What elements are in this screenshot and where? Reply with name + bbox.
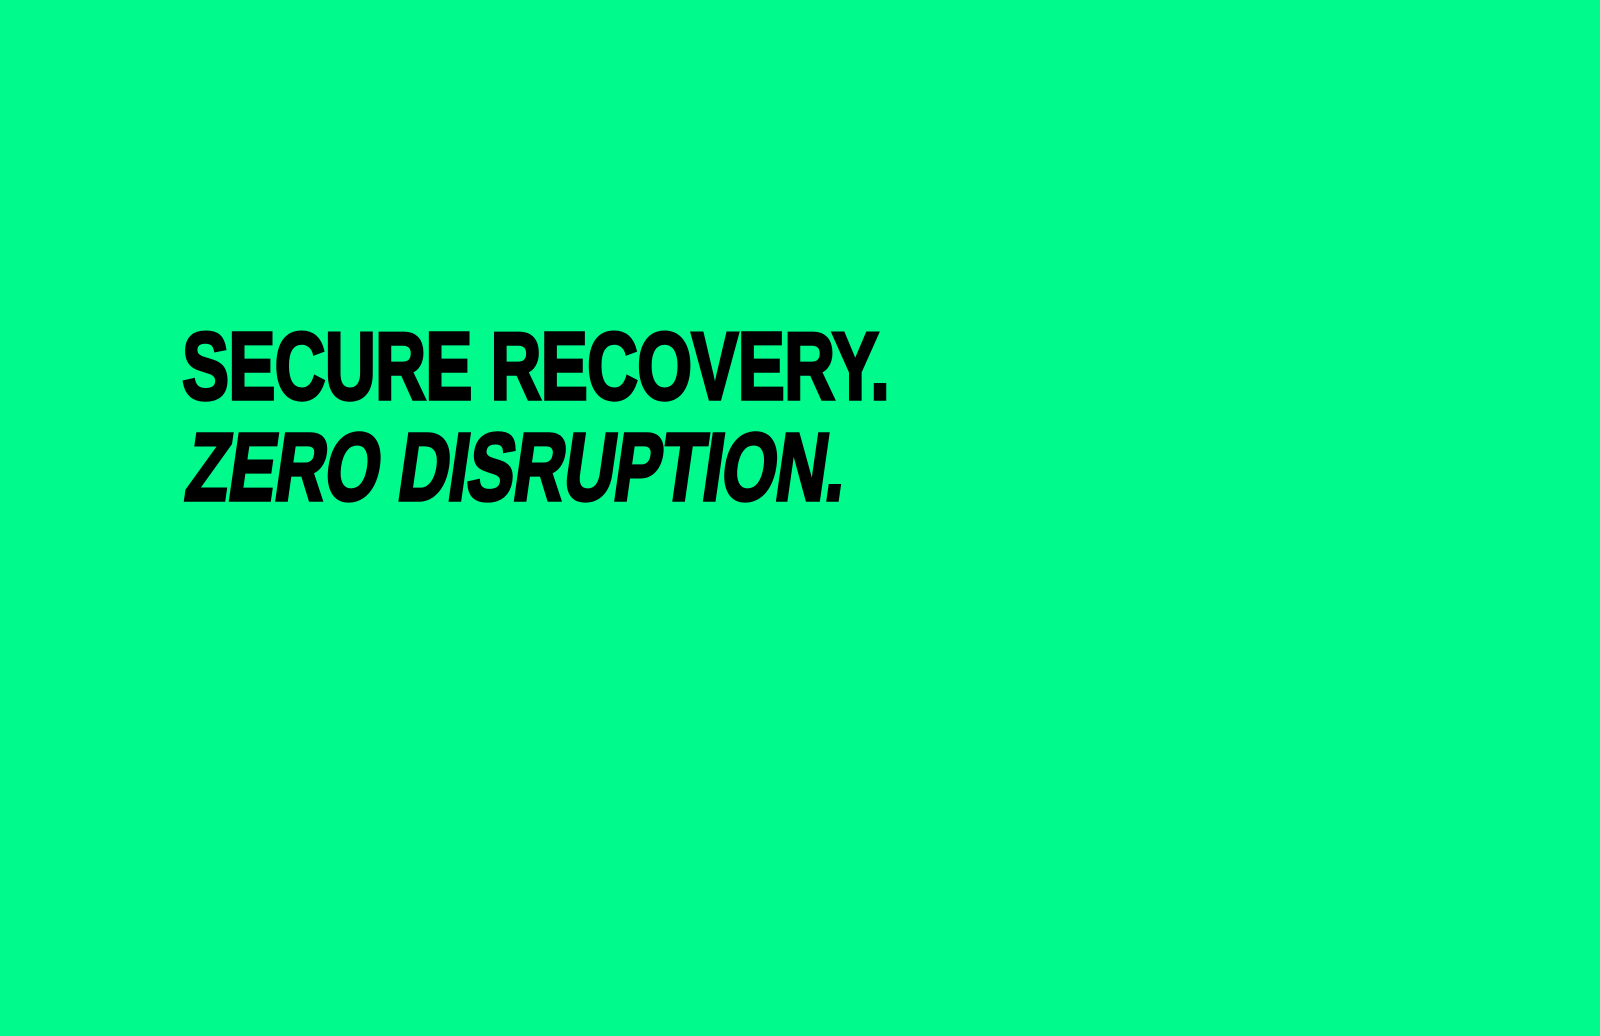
headline-line-primary: SECURE RECOVERY. [182,316,991,417]
headline-line-secondary-wrapper: ZERO DISRUPTION. [182,417,1282,518]
slide-canvas: SECURE RECOVERY. ZERO DISRUPTION. [0,0,1600,1036]
headline-block: SECURE RECOVERY. ZERO DISRUPTION. [182,316,1282,518]
headline-line-secondary: ZERO DISRUPTION. [181,417,994,518]
